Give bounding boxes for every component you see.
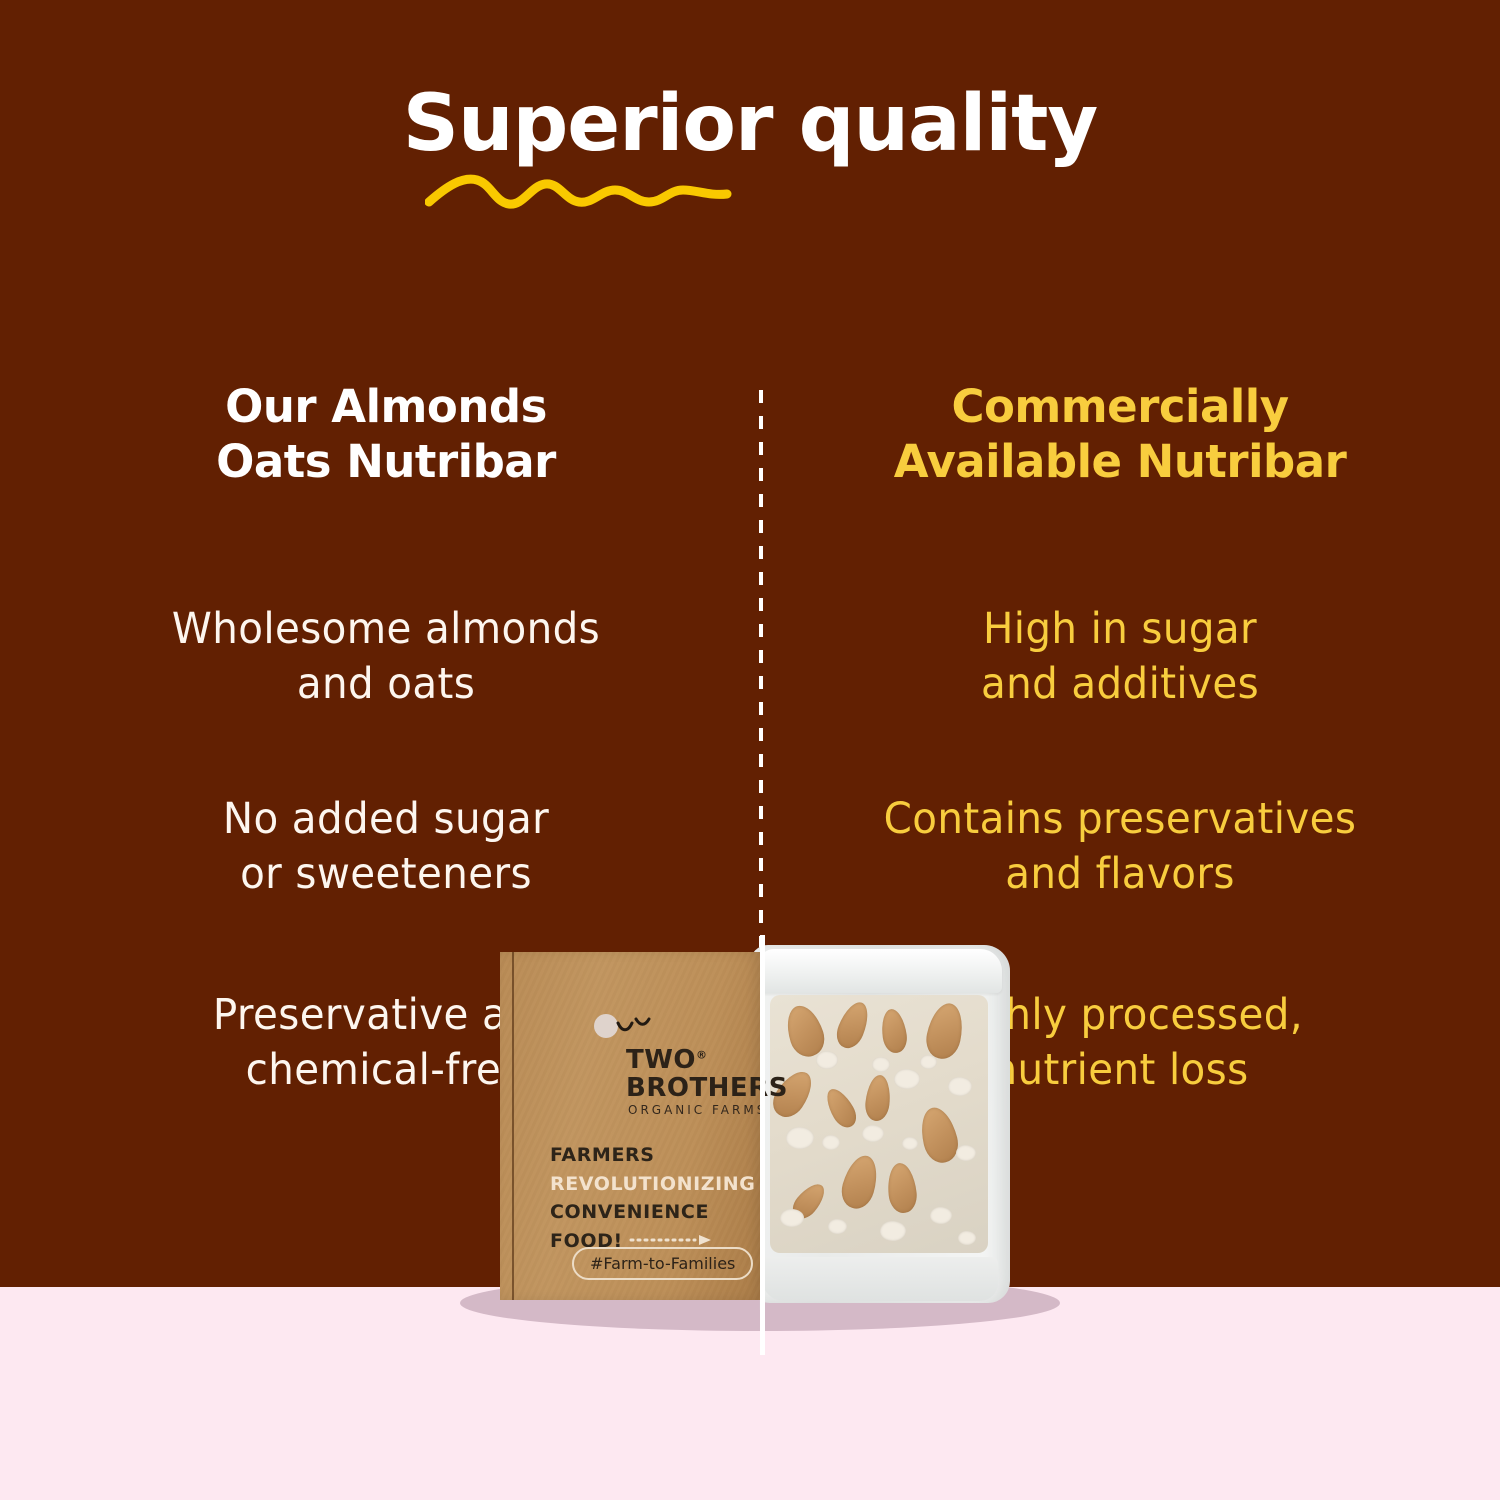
tub-contents <box>770 995 988 1253</box>
tagline-line3: CONVENIENCE <box>550 1201 709 1223</box>
heading-right-line2: Available Nutribar <box>894 435 1347 488</box>
benefit-item-2-line2: or sweeteners <box>57 847 715 902</box>
dotted-arrow-icon <box>629 1235 715 1245</box>
heading-right-line1: Commercially <box>951 380 1288 433</box>
column-competitor-product: Commercially Available Nutribar High in … <box>770 380 1470 490</box>
column-heading-left: Our Almonds Oats Nutribar <box>36 380 736 490</box>
smiley-face-icon <box>592 1013 656 1039</box>
drawback-item-1: High in sugar and additives <box>770 602 1470 712</box>
tagline-line1: FARMERS <box>550 1144 655 1166</box>
benefit-item-2-line1: No added sugar <box>57 792 715 847</box>
image-splice-seam <box>760 935 765 1315</box>
tub-base <box>762 1257 998 1301</box>
box-tagline: FARMERS REVOLUTIONIZING CONVENIENCE FOOD… <box>550 1141 756 1255</box>
brand-line1: TWO <box>626 1045 696 1075</box>
benefit-item-1: Wholesome almonds and oats <box>36 602 736 712</box>
heading-left-line1: Our Almonds <box>225 380 547 433</box>
drawback-item-1-line1: High in sugar <box>791 602 1449 657</box>
box-fold-line <box>512 952 514 1300</box>
benefit-item-2: No added sugar or sweeteners <box>36 792 736 902</box>
benefit-item-1-line1: Wholesome almonds <box>57 602 715 657</box>
wavy-underline-icon <box>425 162 735 214</box>
tagline-line2: REVOLUTIONIZING <box>550 1173 756 1195</box>
column-our-product: Our Almonds Oats Nutribar Wholesome almo… <box>36 380 736 490</box>
brand-subtitle: ORGANIC FARMS <box>628 1103 767 1117</box>
product-comparison-image: TWO® BROTHERS ORGANIC FARMS FARMERS REVO… <box>440 935 1060 1315</box>
image-splice-seam-tail <box>760 1315 765 1355</box>
heading-left-line2: Oats Nutribar <box>216 435 556 488</box>
infographic-canvas: Superior quality Our Almonds Oats Nutrib… <box>0 0 1500 1500</box>
page-title: Superior quality <box>0 84 1500 166</box>
tub-lid <box>758 949 1002 993</box>
benefit-item-1-line2: and oats <box>57 657 715 712</box>
column-heading-right: Commercially Available Nutribar <box>770 380 1470 490</box>
drawback-item-1-line2: and additives <box>791 657 1449 712</box>
brand-registered-icon: ® <box>696 1048 708 1061</box>
brand-name: TWO® BROTHERS <box>626 1047 776 1102</box>
drawback-item-2-line2: and flavors <box>791 847 1449 902</box>
drawback-item-2: Contains preservatives and flavors <box>770 792 1470 902</box>
drawback-item-2-line1: Contains preservatives <box>791 792 1449 847</box>
box-hashtag: #Farm-to-Families <box>572 1247 753 1280</box>
